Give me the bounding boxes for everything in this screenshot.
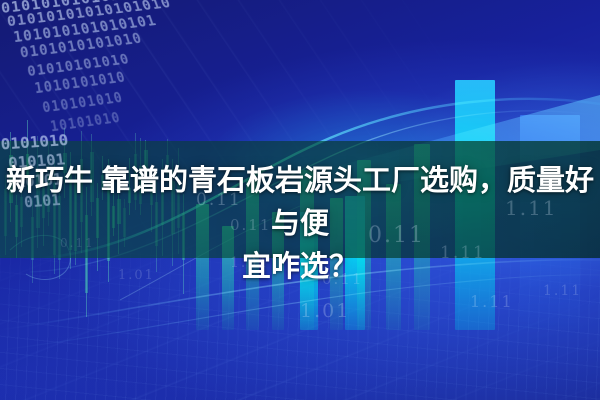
value-label: 1.11 bbox=[470, 292, 514, 311]
page-title: 新巧牛 靠谱的青石板岩源头工厂选购，质量好与便 宜咋选？ bbox=[0, 160, 600, 289]
value-label: 1.01 bbox=[300, 300, 350, 322]
headline-line-1: 新巧牛 靠谱的青石板岩源头工厂选购，质量好与便 bbox=[6, 165, 594, 240]
banner-image: 0101010101010101010010101010101010101010… bbox=[0, 0, 600, 400]
binary-row: 0101010 bbox=[0, 130, 70, 153]
headline-line-2: 宜咋选？ bbox=[2, 246, 598, 289]
